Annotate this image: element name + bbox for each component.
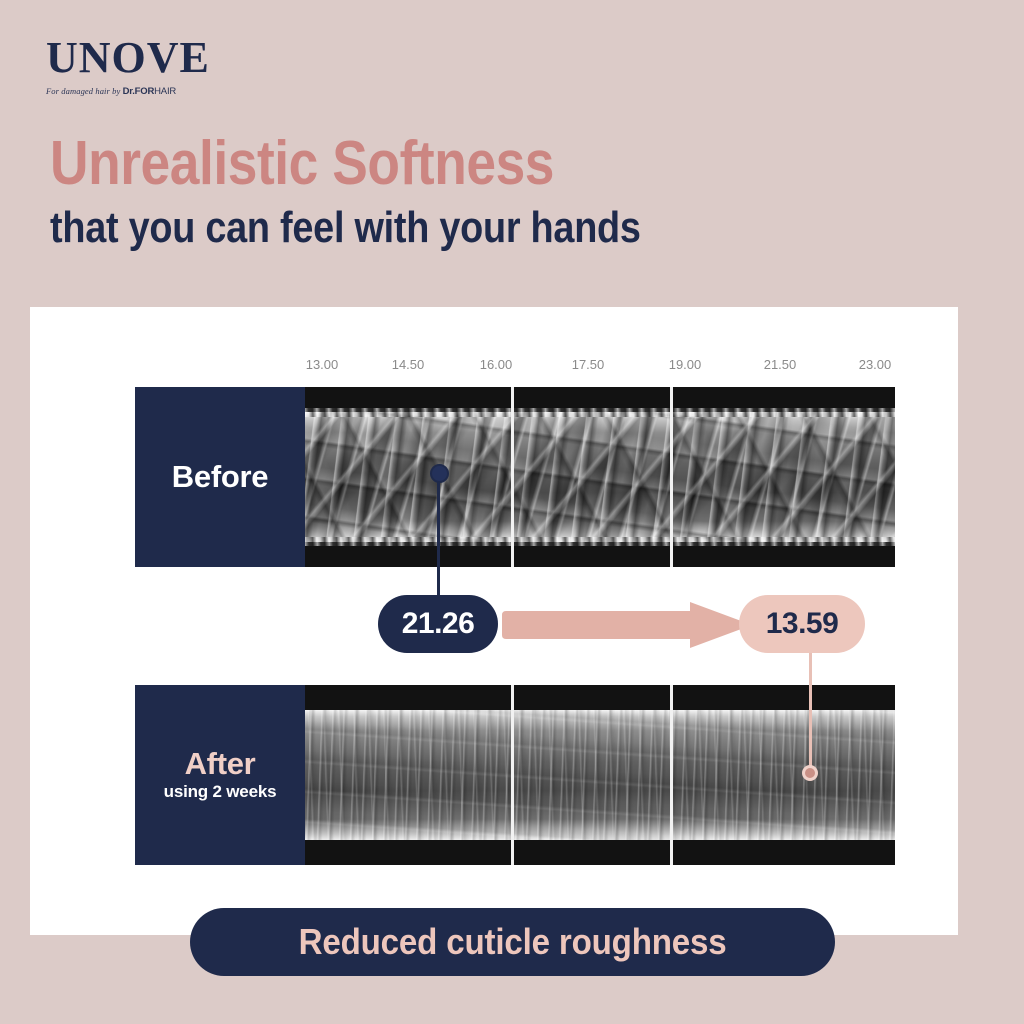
axis-tick-1: 14.50 [392, 357, 425, 372]
after-label-panel: After using 2 weeks [135, 685, 305, 865]
brand-tagline-bold: Dr.FOR [123, 86, 155, 97]
brand-wordmark: UNOVE [46, 36, 346, 80]
axis-tick-2: 16.00 [480, 357, 513, 372]
headline-secondary: that you can feel with your hands [50, 205, 824, 251]
before-cuticle-texture-overlay [305, 412, 895, 542]
axis-tick-3: 17.50 [572, 357, 605, 372]
measurement-axis: 13.00 14.50 16.00 17.50 19.00 21.50 23.0… [30, 357, 958, 379]
before-connector-line [437, 471, 440, 597]
axis-tick-5: 21.50 [764, 357, 797, 372]
result-card: 13.00 14.50 16.00 17.50 19.00 21.50 23.0… [30, 307, 958, 935]
before-fiber-edge-bottom [305, 537, 895, 546]
brand-logo: UNOVE For damaged hair by Dr.FORHAIR [46, 36, 346, 97]
before-panel-divider-2 [670, 387, 673, 567]
after-connector-line [809, 647, 812, 775]
axis-tick-6: 23.00 [859, 357, 892, 372]
before-label-panel: Before [135, 387, 305, 567]
brand-tagline-prefix: For damaged hair by [46, 86, 123, 96]
after-measurement-point-dot [802, 765, 818, 781]
axis-tick-4: 19.00 [669, 357, 702, 372]
before-fiber-edge-top [305, 408, 895, 417]
before-label: Before [172, 459, 268, 495]
before-row: Before [135, 387, 895, 567]
after-panel-divider-2 [670, 685, 673, 865]
result-banner: Reduced cuticle roughness [190, 908, 835, 976]
brand-tagline-drforhair: Dr.FORHAIR [123, 86, 176, 97]
brand-tagline: For damaged hair by Dr.FORHAIR [46, 86, 346, 97]
improvement-arrow-icon [502, 602, 752, 648]
before-value-badge: 21.26 [378, 595, 498, 653]
after-label: After [185, 748, 256, 781]
brand-tagline-light: HAIR [154, 86, 176, 97]
axis-tick-0: 13.00 [306, 357, 339, 372]
headline-block: Unrealistic Softness that you can feel w… [50, 132, 950, 251]
after-value-badge: 13.59 [739, 595, 865, 653]
result-banner-text: Reduced cuticle roughness [299, 921, 727, 963]
after-sublabel: using 2 weeks [164, 782, 277, 802]
before-measurement-point-dot [430, 464, 449, 483]
after-row: After using 2 weeks [135, 685, 895, 865]
before-panel-divider-1 [511, 387, 514, 567]
after-panel-divider-1 [511, 685, 514, 865]
before-hair-fiber [305, 412, 895, 542]
before-sem-image [305, 387, 895, 567]
headline-primary: Unrealistic Softness [50, 132, 824, 195]
